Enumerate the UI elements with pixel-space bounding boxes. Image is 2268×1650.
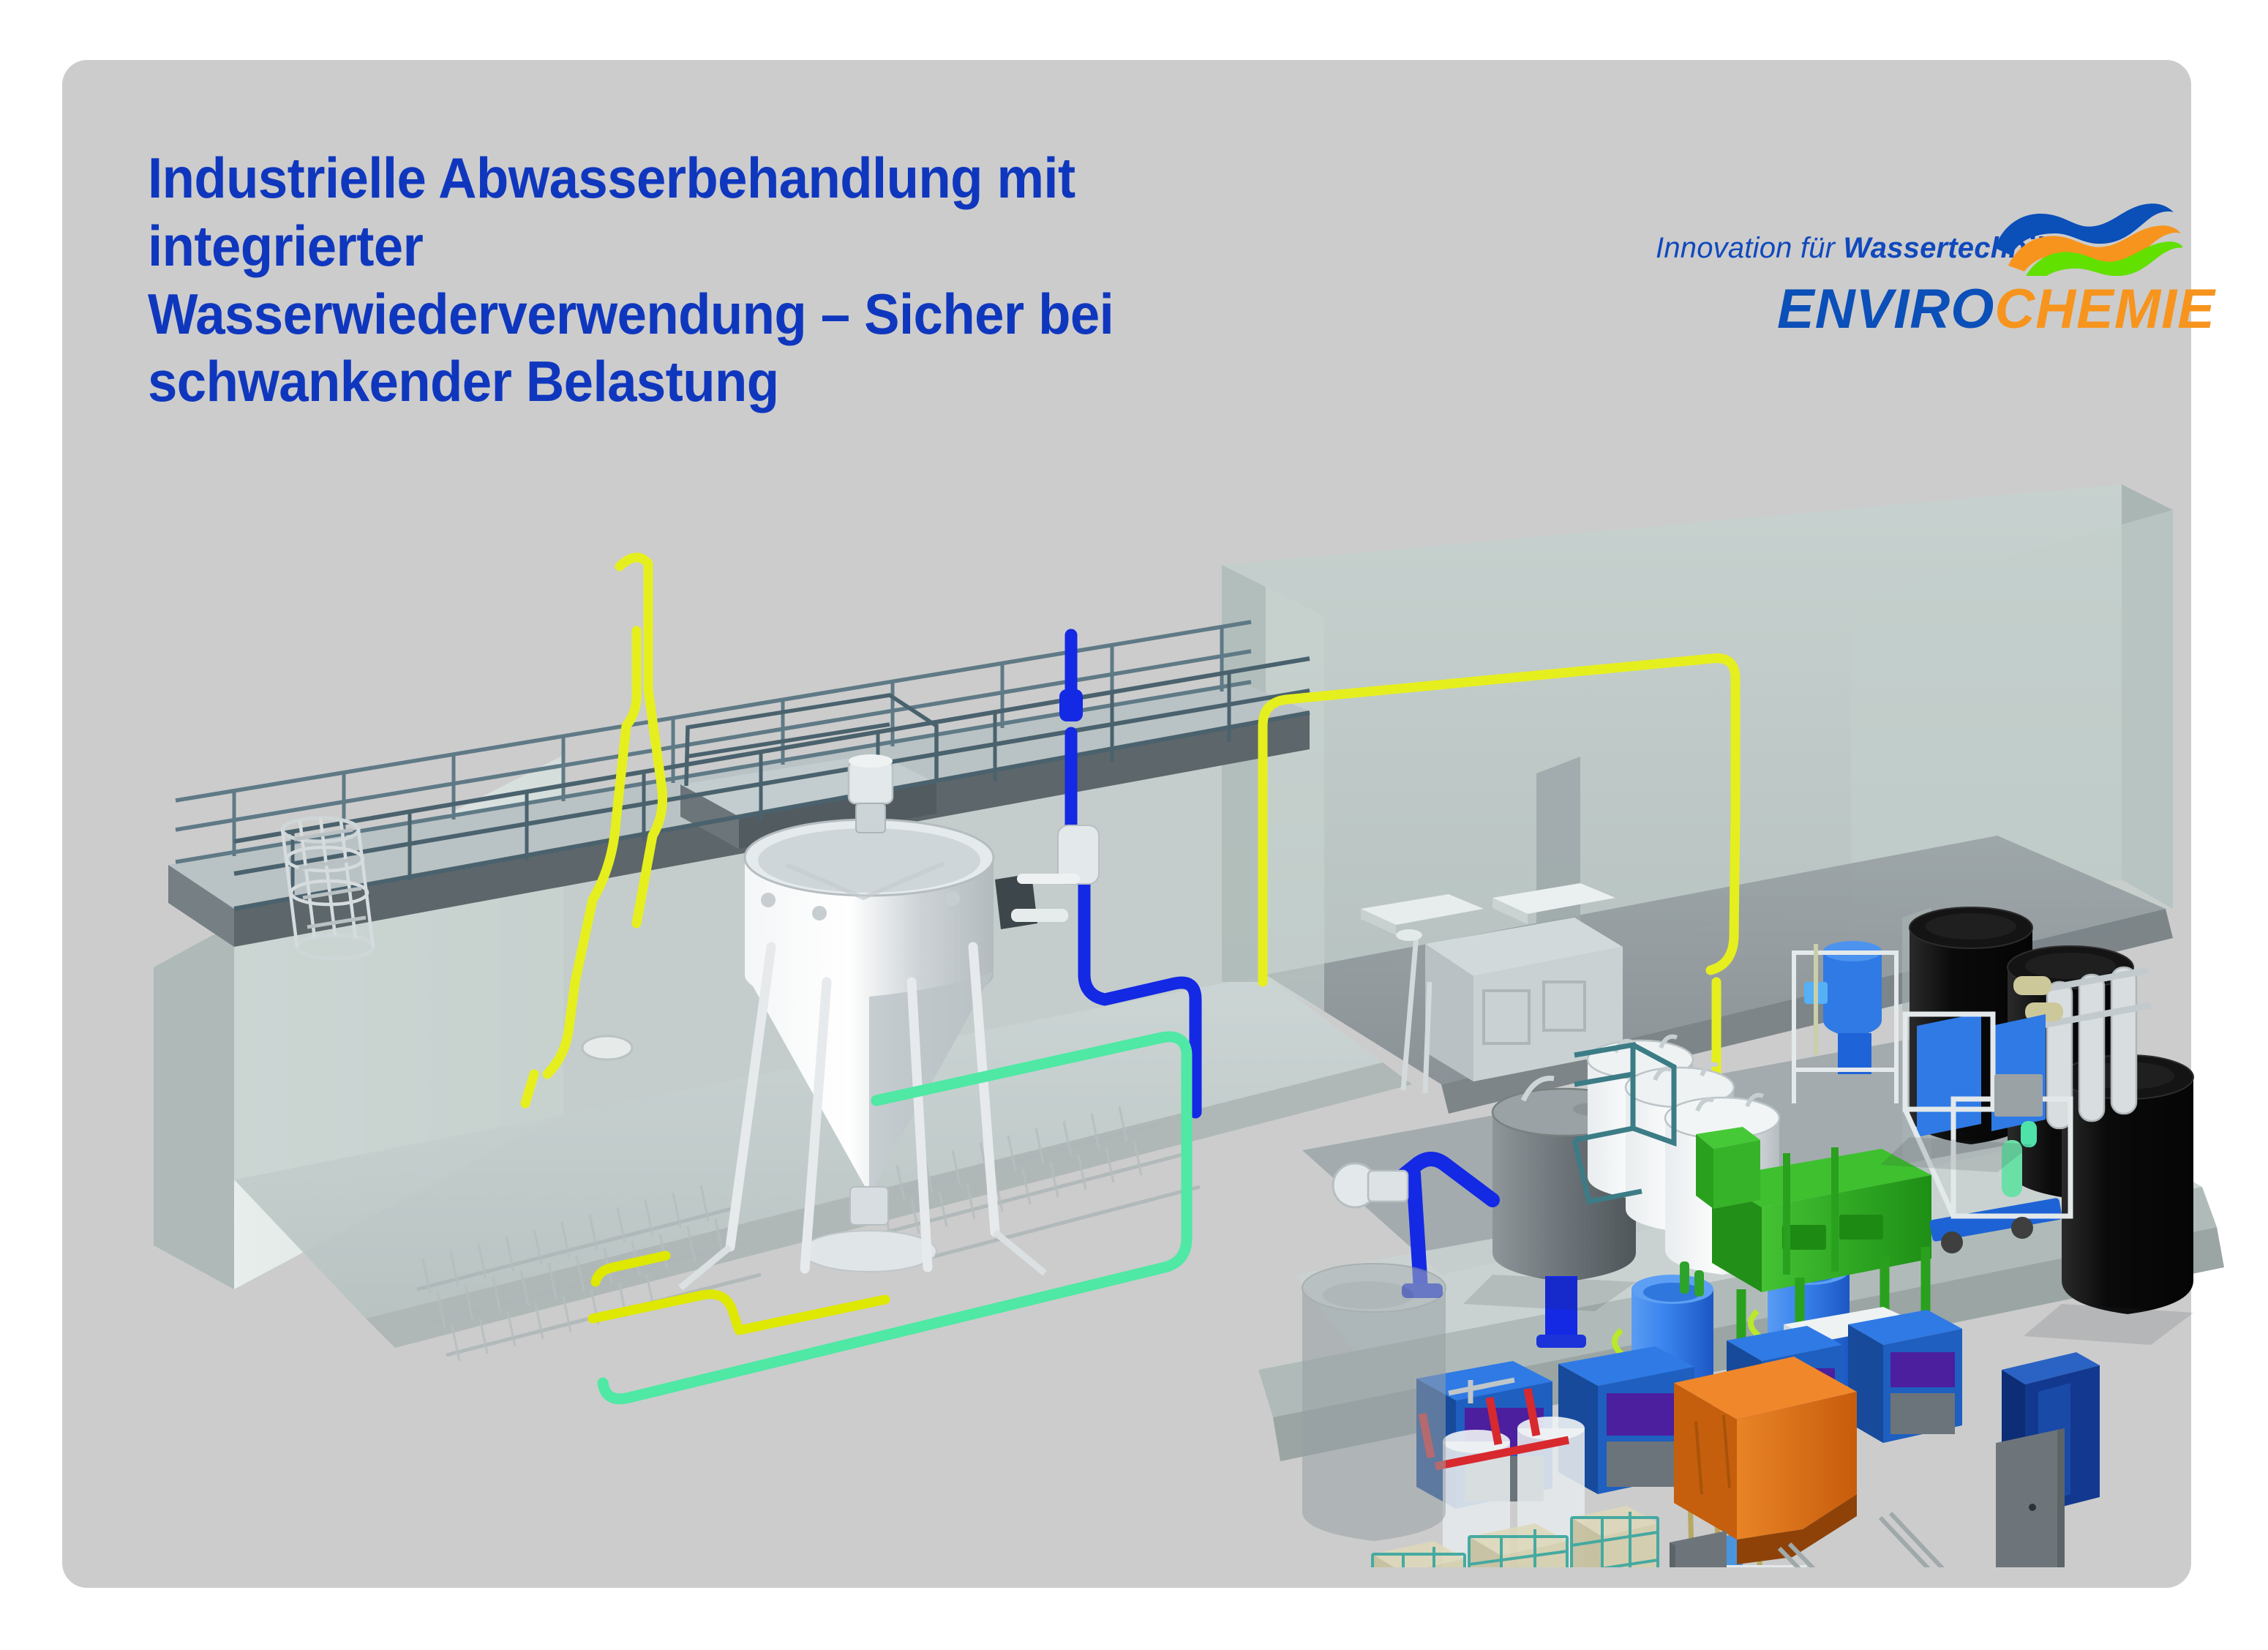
slide-page: Industrielle Abwasserbehandlung mit inte… [0, 0, 2268, 1650]
logo-wordmark-enviro: ENVIRO [1777, 278, 1994, 340]
logo-wordmark-chemie: CHEMIE [1994, 278, 2215, 340]
blower-unit[interactable] [1333, 1163, 1408, 1207]
skip-container-orange[interactable] [1674, 1357, 1857, 1564]
basin-drain-hole [582, 1036, 632, 1060]
door-grey-2[interactable] [1996, 1428, 2065, 1567]
brand-logo: Innovation für Wassertechnik ENVIROCHEMI… [1642, 188, 2184, 349]
three-wave-ribbon-icon [1992, 188, 2182, 276]
buffer-tank-translucent [1302, 1264, 1446, 1541]
plant-3d-illustration [124, 470, 2253, 1567]
logo-tagline-plain: Innovation für [1656, 232, 1844, 264]
door-grey-1[interactable] [1670, 1531, 1727, 1567]
slide-card: Industrielle Abwasserbehandlung mit inte… [62, 60, 2191, 1588]
page-title: Industrielle Abwasserbehandlung mit inte… [148, 144, 1339, 416]
clarifier-agitator-motor [849, 754, 893, 833]
logo-wordmark: ENVIROCHEMIE [1777, 277, 2215, 341]
